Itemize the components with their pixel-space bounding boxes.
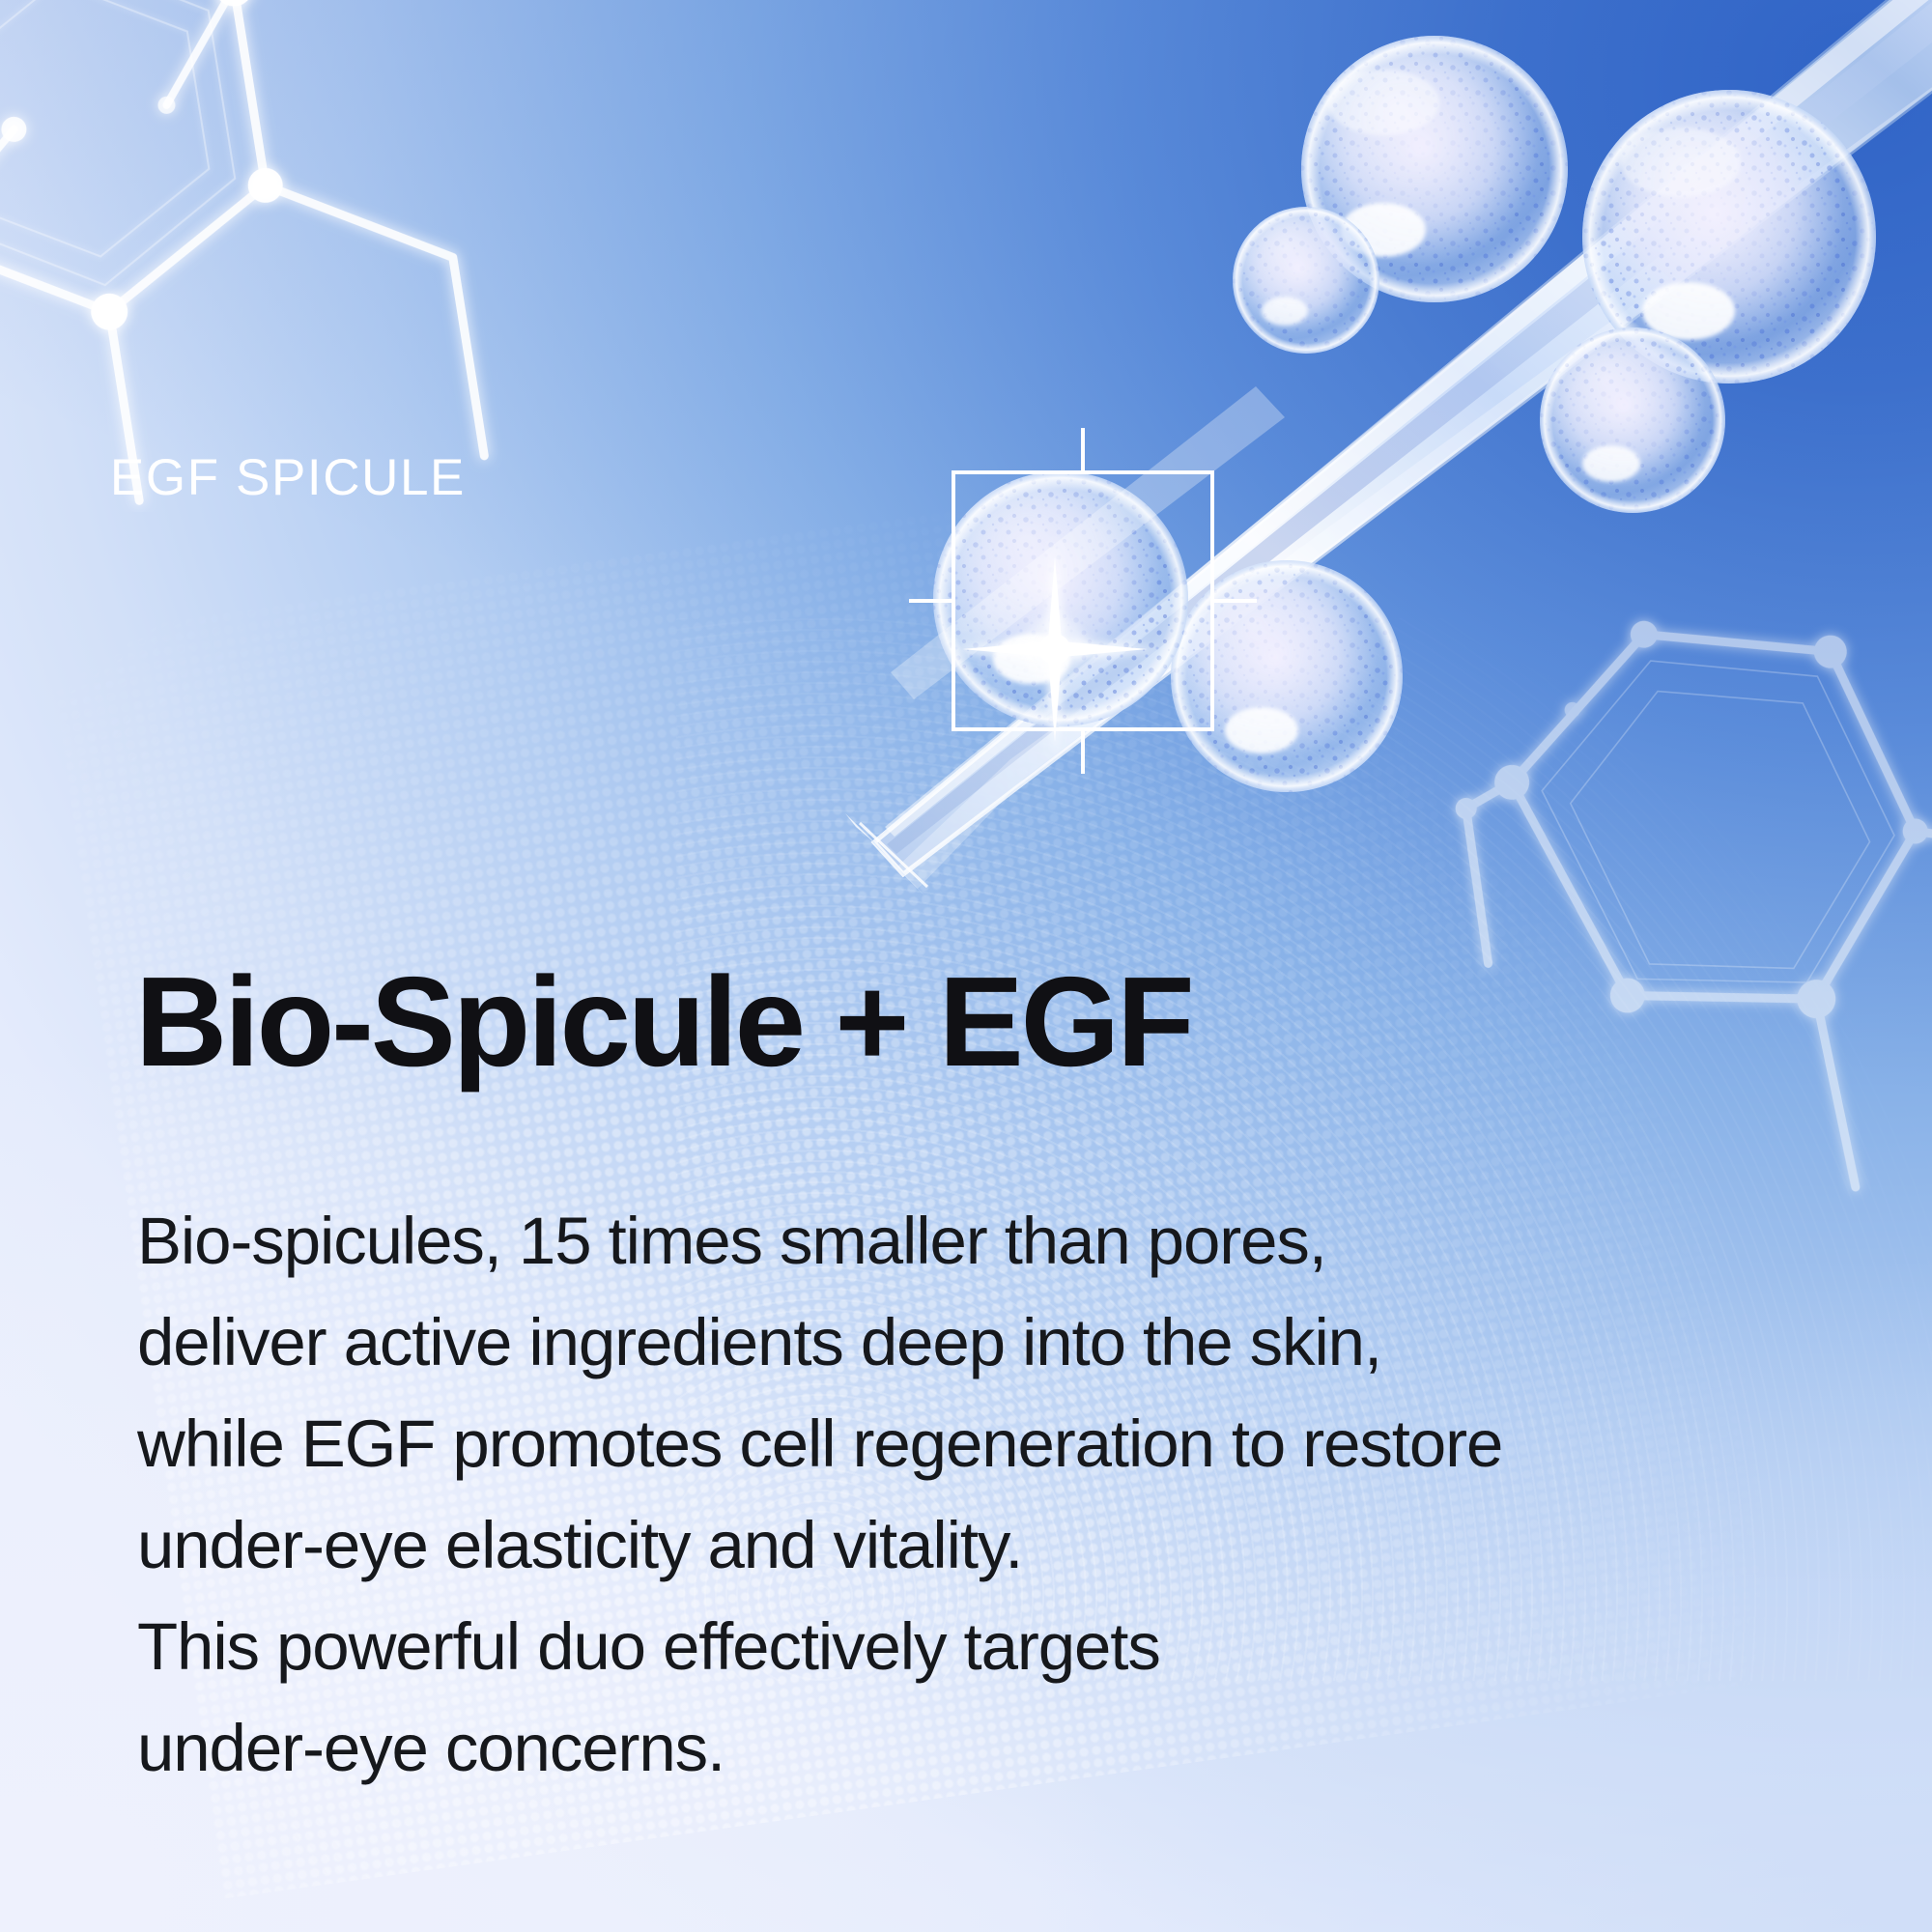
infographic-canvas: EGF SPICULE Bio-Spicule + EGF Bio-spicul… (0, 0, 1932, 1932)
body-copy: Bio-spicules, 15 times smaller than pore… (137, 1190, 1876, 1799)
frame-tick-left-icon (909, 599, 952, 603)
frame-tick-right-icon (1214, 599, 1257, 603)
body-line: This powerful duo effectively targets (137, 1596, 1876, 1697)
focus-frame (952, 470, 1214, 731)
frame-tick-bottom-icon (1081, 731, 1085, 774)
body-line: under-eye concerns. (137, 1697, 1876, 1799)
body-line: under-eye elasticity and vitality. (137, 1494, 1876, 1596)
egf-spicule-label: EGF SPICULE (110, 448, 466, 507)
frame-tick-top-icon (1081, 428, 1085, 470)
body-line: deliver active ingredients deep into the… (137, 1292, 1876, 1393)
body-line: Bio-spicules, 15 times smaller than pore… (137, 1190, 1876, 1292)
page-title: Bio-Spicule + EGF (135, 954, 1191, 1090)
body-line: while EGF promotes cell regeneration to … (137, 1393, 1876, 1494)
